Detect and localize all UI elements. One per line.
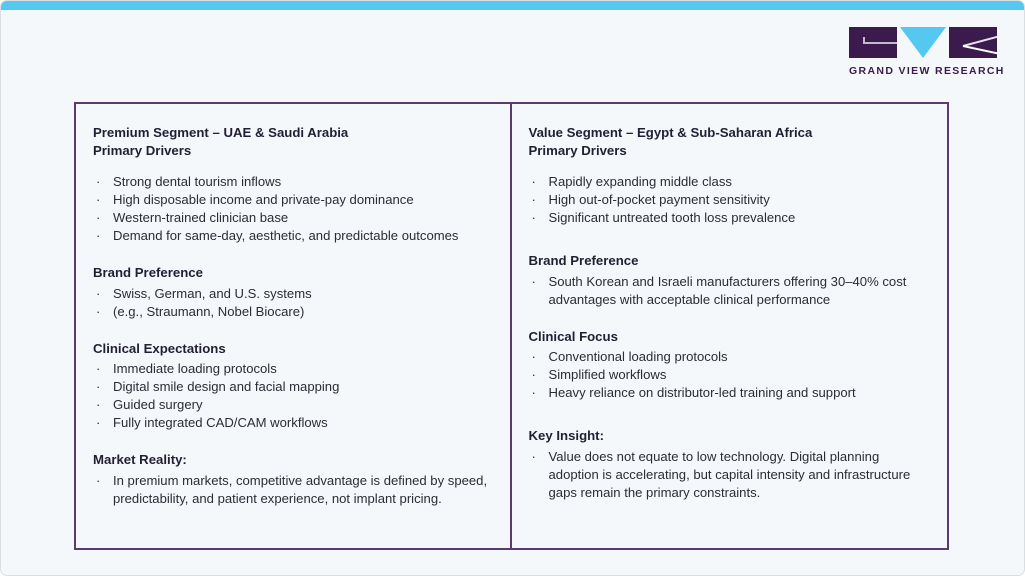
bullet-icon: ·: [532, 191, 536, 209]
column-subtitle: Primary Drivers: [529, 142, 926, 160]
list-item-text: High out-of-pocket payment sensitivity: [549, 192, 770, 207]
list-item-text: Fully integrated CAD/CAM workflows: [113, 415, 328, 430]
bullet-icon: ·: [96, 285, 100, 303]
list-item-text: Strong dental tourism inflows: [113, 174, 281, 189]
section-brand-preference: Brand Preference ·Swiss, German, and U.S…: [93, 264, 488, 321]
comparison-table: Premium Segment – UAE & Saudi Arabia Pri…: [74, 102, 949, 550]
list-item: ·Simplified workflows: [529, 366, 926, 384]
bullet-icon: ·: [96, 414, 100, 432]
bullet-icon: ·: [96, 360, 100, 378]
section-clinical-focus: Clinical Focus ·Conventional loading pro…: [529, 328, 926, 409]
logo-triangle-icon: [900, 27, 946, 58]
bullet-icon: ·: [96, 396, 100, 414]
section-market-reality: Market Reality: ·In premium markets, com…: [93, 451, 488, 508]
bullet-icon: ·: [532, 384, 536, 402]
bullet-icon: ·: [532, 366, 536, 384]
list-item-text: Value does not equate to low technology.…: [549, 449, 911, 500]
section-heading: Key Insight:: [529, 427, 926, 445]
bullet-list: ·Value does not equate to low technology…: [529, 448, 926, 502]
bullet-icon: ·: [96, 209, 100, 227]
bullet-icon: ·: [532, 209, 536, 227]
list-item-text: Demand for same-day, aesthetic, and pred…: [113, 228, 458, 243]
section-heading: Market Reality:: [93, 451, 488, 469]
logo-marks: [849, 27, 997, 58]
list-item-text: Simplified workflows: [549, 367, 667, 382]
list-item: ·High disposable income and private-pay …: [93, 191, 488, 209]
list-item: ·Western-trained clinician base: [93, 209, 488, 227]
section-primary-drivers: ·Strong dental tourism inflows ·High dis…: [93, 173, 488, 245]
list-item-text: High disposable income and private-pay d…: [113, 192, 414, 207]
list-item-text: Guided surgery: [113, 397, 203, 412]
bullet-icon: ·: [96, 191, 100, 209]
list-item: ·Strong dental tourism inflows: [93, 173, 488, 191]
section-heading: Clinical Focus: [529, 328, 926, 346]
section-key-insight: Key Insight: ·Value does not equate to l…: [529, 427, 926, 502]
list-item: ·In premium markets, competitive advanta…: [93, 472, 488, 508]
bullet-icon: ·: [532, 273, 536, 291]
section-clinical-expectations: Clinical Expectations ·Immediate loading…: [93, 340, 488, 433]
bullet-list: ·Conventional loading protocols ·Simplif…: [529, 348, 926, 402]
logo-wordmark: GRAND VIEW RESEARCH: [849, 65, 997, 77]
bullet-list: ·Strong dental tourism inflows ·High dis…: [93, 173, 488, 245]
grand-view-research-logo: GRAND VIEW RESEARCH: [849, 27, 997, 77]
list-item: ·South Korean and Israeli manufacturers …: [529, 273, 926, 309]
slide-canvas: GRAND VIEW RESEARCH Premium Segment – UA…: [0, 0, 1025, 576]
column-subtitle: Primary Drivers: [93, 142, 488, 160]
list-item: ·Guided surgery: [93, 396, 488, 414]
section-brand-preference: Brand Preference ·South Korean and Israe…: [529, 252, 926, 309]
bullet-icon: ·: [96, 472, 100, 490]
logo-right-square-icon: [949, 27, 997, 58]
list-item: ·Swiss, German, and U.S. systems: [93, 285, 488, 303]
list-item-text: Significant untreated tooth loss prevale…: [549, 210, 796, 225]
list-item-text: Immediate loading protocols: [113, 361, 277, 376]
list-item: ·Value does not equate to low technology…: [529, 448, 926, 502]
bullet-list: ·Immediate loading protocols ·Digital sm…: [93, 360, 488, 432]
table-column-premium-segment: Premium Segment – UAE & Saudi Arabia Pri…: [76, 104, 512, 548]
list-item: ·(e.g., Straumann, Nobel Biocare): [93, 303, 488, 321]
bullet-list: ·Rapidly expanding middle class ·High ou…: [529, 173, 926, 227]
column-title: Value Segment – Egypt & Sub-Saharan Afri…: [529, 124, 926, 142]
list-item: ·Fully integrated CAD/CAM workflows: [93, 414, 488, 432]
column-title: Premium Segment – UAE & Saudi Arabia: [93, 124, 488, 142]
list-item-text: Digital smile design and facial mapping: [113, 379, 339, 394]
list-item-text: Conventional loading protocols: [549, 349, 728, 364]
bullet-icon: ·: [532, 173, 536, 191]
list-item-text: In premium markets, competitive advantag…: [113, 473, 487, 506]
list-item: ·Demand for same-day, aesthetic, and pre…: [93, 227, 488, 245]
list-item-text: South Korean and Israeli manufacturers o…: [549, 274, 907, 307]
section-heading: Brand Preference: [529, 252, 926, 270]
bullet-icon: ·: [532, 348, 536, 366]
bullet-icon: ·: [96, 378, 100, 396]
list-item: ·Immediate loading protocols: [93, 360, 488, 378]
section-primary-drivers: ·Rapidly expanding middle class ·High ou…: [529, 173, 926, 233]
list-item: ·Conventional loading protocols: [529, 348, 926, 366]
bullet-list: ·Swiss, German, and U.S. systems ·(e.g.,…: [93, 285, 488, 321]
list-item: ·Significant untreated tooth loss preval…: [529, 209, 926, 227]
table-column-value-segment: Value Segment – Egypt & Sub-Saharan Afri…: [512, 104, 948, 548]
list-item: ·Heavy reliance on distributor-led train…: [529, 384, 926, 402]
logo-left-square-icon: [849, 27, 897, 58]
section-heading: Clinical Expectations: [93, 340, 488, 358]
list-item: ·Digital smile design and facial mapping: [93, 378, 488, 396]
list-item-text: Rapidly expanding middle class: [549, 174, 732, 189]
bullet-icon: ·: [96, 227, 100, 245]
section-heading: Brand Preference: [93, 264, 488, 282]
bullet-list: ·South Korean and Israeli manufacturers …: [529, 273, 926, 309]
bullet-list: ·In premium markets, competitive advanta…: [93, 472, 488, 508]
bullet-icon: ·: [96, 303, 100, 321]
list-item-text: Heavy reliance on distributor-led traini…: [549, 385, 856, 400]
bullet-icon: ·: [96, 173, 100, 191]
list-item: ·Rapidly expanding middle class: [529, 173, 926, 191]
bullet-icon: ·: [532, 448, 536, 466]
top-accent-bar: [1, 1, 1025, 10]
list-item-text: Swiss, German, and U.S. systems: [113, 286, 312, 301]
list-item-text: (e.g., Straumann, Nobel Biocare): [113, 304, 304, 319]
list-item: ·High out-of-pocket payment sensitivity: [529, 191, 926, 209]
list-item-text: Western-trained clinician base: [113, 210, 288, 225]
